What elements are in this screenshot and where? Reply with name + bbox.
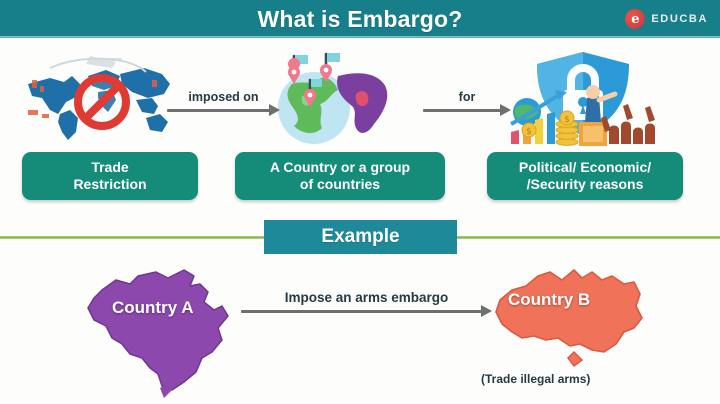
country-b-note: (Trade illegal arms) bbox=[481, 372, 590, 386]
world-map-prohibited-icon bbox=[20, 52, 180, 144]
country-a-label: Country A bbox=[112, 298, 194, 318]
arrow-shape bbox=[423, 107, 511, 113]
arrow-shape bbox=[167, 107, 280, 113]
connector-arrow-for: for bbox=[423, 90, 511, 113]
connector-arrow-imposed-on: imposed on bbox=[167, 90, 280, 113]
page-title: What is Embargo? bbox=[0, 0, 720, 38]
step-label-line2: of countries bbox=[270, 176, 410, 193]
brand-logo: e EDUCBA bbox=[625, 8, 708, 30]
header-bar: What is Embargo? e EDUCBA bbox=[0, 0, 720, 38]
prohibition-sign-icon bbox=[74, 74, 130, 130]
slide-canvas: What is Embargo? e EDUCBA bbox=[0, 0, 720, 404]
educba-logo-icon: e bbox=[625, 9, 645, 29]
step-label-line1: Trade bbox=[73, 159, 146, 176]
brand-name: EDUCBA bbox=[651, 13, 708, 25]
example-heading: Example bbox=[264, 220, 457, 254]
svg-text:$: $ bbox=[526, 127, 532, 137]
step-label-line1: Political/ Economic/ bbox=[519, 159, 651, 176]
country-b-label: Country B bbox=[508, 290, 590, 310]
country-a-map[interactable]: Country A bbox=[72, 262, 262, 400]
shield-lock-economy-icon: $ $ bbox=[505, 46, 660, 150]
country-b-map[interactable]: Country B bbox=[478, 266, 668, 376]
svg-text:$: $ bbox=[564, 115, 570, 125]
arrow-shape bbox=[241, 308, 492, 314]
globe-with-country-pins-icon bbox=[272, 50, 397, 148]
step-label-line2: /Security reasons bbox=[519, 176, 651, 193]
connector-label: imposed on bbox=[167, 90, 280, 104]
step-box-trade-restriction[interactable]: Trade Restriction bbox=[22, 152, 198, 200]
connector-label: for bbox=[423, 90, 511, 104]
connector-arrow-impose-embargo: Impose an arms embargo bbox=[241, 290, 492, 314]
step-label-line1: A Country or a group bbox=[270, 159, 410, 176]
step-label-line2: Restriction bbox=[73, 176, 146, 193]
header-glow bbox=[0, 36, 720, 40]
connector-label: Impose an arms embargo bbox=[241, 290, 492, 305]
step-box-reasons[interactable]: Political/ Economic/ /Security reasons bbox=[487, 152, 683, 200]
step-box-target-countries[interactable]: A Country or a group of countries bbox=[235, 152, 445, 200]
